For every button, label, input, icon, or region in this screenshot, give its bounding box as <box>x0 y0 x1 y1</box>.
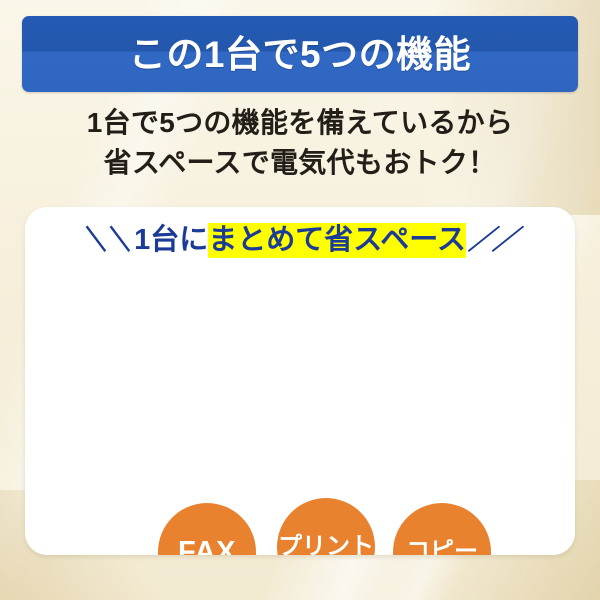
bubble-label-print: プリント <box>278 535 374 555</box>
feature-card: ＼＼1台にまとめて省スペース／／ <box>25 207 575 555</box>
headline-highlight: まとめて省スペース <box>208 223 466 258</box>
subtitle-line-1: 1台で5つの機能を備えているから <box>0 103 600 143</box>
banner-title: この1台で5つの機能 <box>129 36 471 73</box>
headline-slash-right: ／／ <box>466 227 521 254</box>
subtitle-line-2: 省スペースで電気代もおトク！ <box>0 143 600 183</box>
poster-root: この1台で5つの機能 1台で5つの機能を備えているから 省スペースで電気代もおト… <box>0 0 600 600</box>
feature-bubble-fax[interactable]: FAX <box>158 503 256 555</box>
subtitle-block: 1台で5つの機能を備えているから 省スペースで電気代もおトク！ <box>0 103 600 183</box>
bubble-label-fax: FAX <box>178 538 236 556</box>
header-banner: この1台で5つの機能 <box>22 16 578 92</box>
feature-bubble-print[interactable]: プリント <box>277 498 375 555</box>
card-headline: ＼＼1台にまとめて省スペース／／ <box>25 225 575 255</box>
bubble-label-copy: コピー <box>406 540 478 555</box>
feature-bubble-copy[interactable]: コピー <box>393 503 491 555</box>
headline-prefix: 1台に <box>134 224 208 256</box>
headline-slash-left: ＼＼ <box>79 227 134 254</box>
